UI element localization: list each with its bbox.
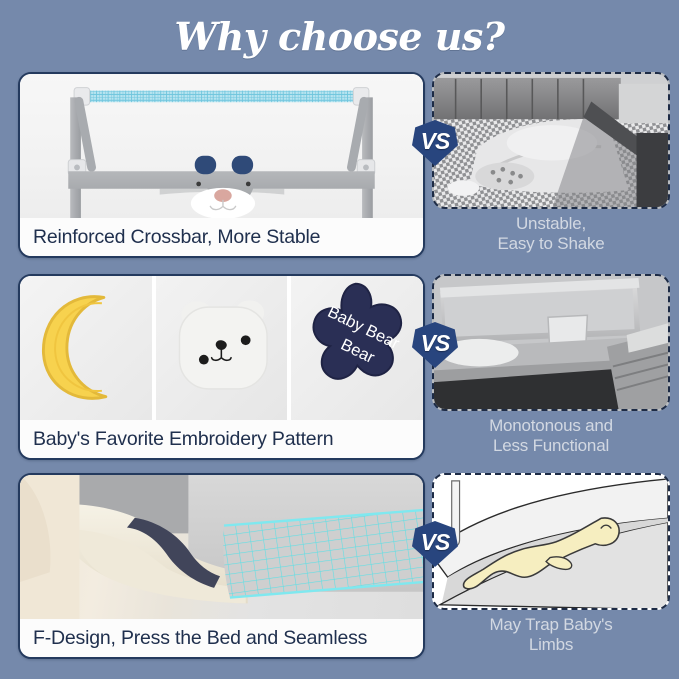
pro-card-2: Baby Bear Bear Baby's Favorite Embroider… <box>18 274 425 460</box>
pro-card-1: Reinforced Crossbar, More Stable <box>18 72 425 258</box>
pro-card-3: F-Design, Press the Bed and Seamless <box>18 473 425 659</box>
con-block-3: May Trap Baby's Limbs <box>432 473 670 665</box>
moon-patch <box>20 276 152 420</box>
vs-badge-3: VS <box>412 521 458 567</box>
moon-patch-svg <box>20 276 152 420</box>
vs-label: VS <box>412 322 458 368</box>
vs-label: VS <box>412 521 458 567</box>
con-caption-2: Monotonous and Less Functional <box>432 416 670 456</box>
con-caption-1: Unstable, Easy to Shake <box>432 214 670 254</box>
comparison-row-1: Reinforced Crossbar, More Stable <box>0 72 679 264</box>
baby-trapped-gap-illustration <box>432 473 670 610</box>
unstable-photo-svg <box>434 74 668 209</box>
pro-caption-2: Baby's Favorite Embroidery Pattern <box>20 420 423 458</box>
plain-rail-photo-svg <box>434 276 668 411</box>
vs-label: VS <box>412 120 458 166</box>
f-design-base-photo <box>20 475 423 619</box>
unstable-bed-rail-photo <box>432 72 670 209</box>
page-title: Why choose us? <box>0 14 679 59</box>
embroidery-patches-photo: Baby Bear Bear <box>20 276 423 420</box>
con-caption-3: May Trap Baby's Limbs <box>432 615 670 655</box>
bed-rail-svg <box>20 74 423 218</box>
con-block-2: Monotonous and Less Functional <box>432 274 670 466</box>
plain-bed-rail-photo <box>432 274 670 411</box>
bed-rail-crossbar-illustration <box>20 74 423 218</box>
trapped-baby-svg <box>434 475 668 610</box>
vs-badge-2: VS <box>412 322 458 368</box>
bear-face-patch <box>156 276 288 420</box>
pro-caption-1: Reinforced Crossbar, More Stable <box>20 218 423 256</box>
pro-caption-3: F-Design, Press the Bed and Seamless <box>20 619 423 657</box>
star-patch: Baby Bear Bear <box>291 276 423 420</box>
vs-badge-1: VS <box>412 120 458 166</box>
infographic-page: Why choose us? <box>0 0 679 679</box>
f-design-svg <box>20 475 423 619</box>
comparison-row-3: F-Design, Press the Bed and Seamless <box>0 473 679 665</box>
star-patch-svg: Baby Bear Bear <box>291 276 423 420</box>
con-block-1: Unstable, Easy to Shake <box>432 72 670 264</box>
comparison-row-2: Baby Bear Bear Baby's Favorite Embroider… <box>0 274 679 466</box>
bear-face-patch-svg <box>156 276 288 420</box>
